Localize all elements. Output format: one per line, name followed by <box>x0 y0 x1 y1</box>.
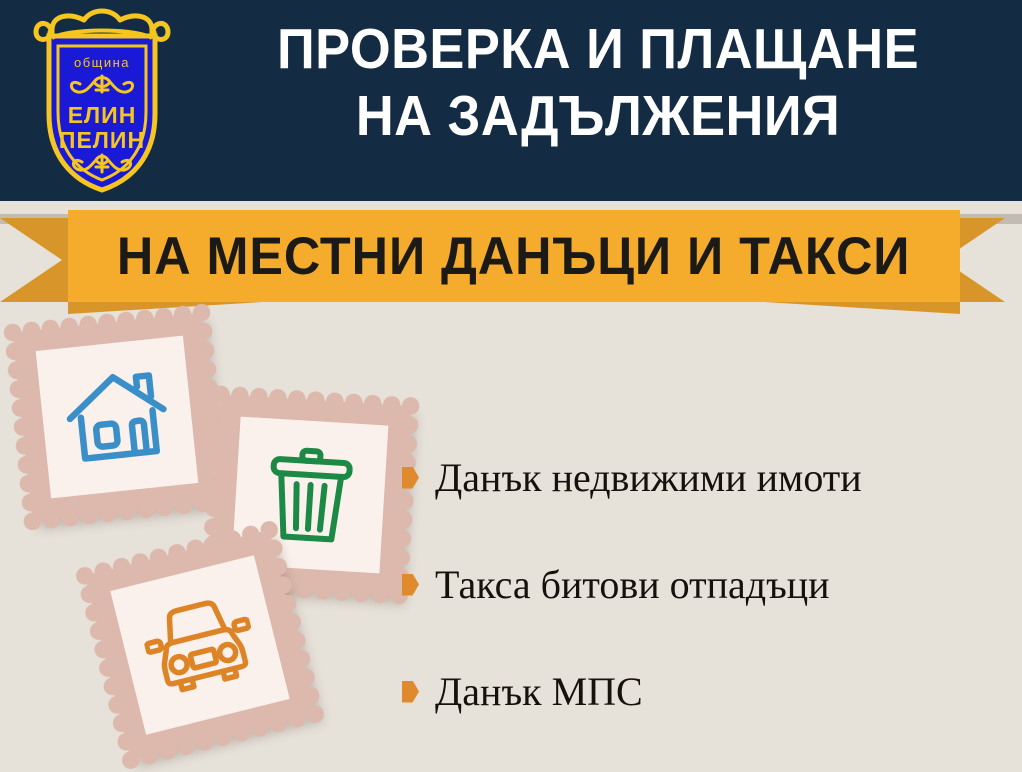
service-list: Данък недвижими имоти Такса битови отпад… <box>402 424 1022 745</box>
arrow-bullet-icon <box>402 467 419 489</box>
poster-root: община ЕЛИН ПЕЛИН <box>0 0 1022 772</box>
page-title-line-2: НА ЗАДЪЛЖЕНИЯ <box>223 83 974 150</box>
header-band: община ЕЛИН ПЕЛИН <box>0 0 1022 201</box>
trash-bin-icon <box>261 442 359 547</box>
list-item-label: Данък недвижими имоти <box>435 458 862 498</box>
car-icon <box>137 590 263 700</box>
crest-top-text: община <box>74 55 130 70</box>
ribbon-panel: НА МЕСТНИ ДАНЪЦИ И ТАКСИ <box>68 210 960 302</box>
page-title: ПРОВЕРКА И ПЛАЩАНЕ НА ЗАДЪЛЖЕНИЯ <box>223 16 974 151</box>
stamp-paper <box>110 555 289 734</box>
list-item[interactable]: Данък недвижими имоти <box>402 424 1022 531</box>
list-item[interactable]: Такса битови отпадъци <box>402 531 1022 638</box>
arrow-bullet-icon <box>402 681 419 703</box>
stamp-paper <box>36 336 199 499</box>
crest-name-line2: ПЕЛИН <box>59 127 145 153</box>
crest-name-line1: ЕЛИН <box>68 102 137 128</box>
list-item-label: Данък МПС <box>435 672 643 712</box>
crest-icon: община ЕЛИН ПЕЛИН <box>22 6 182 196</box>
ribbon-text: НА МЕСТНИ ДАНЪЦИ И ТАКСИ <box>117 226 911 287</box>
stamp-collage <box>0 300 420 772</box>
municipality-crest: община ЕЛИН ПЕЛИН <box>22 6 182 196</box>
list-item-label: Такса битови отпадъци <box>435 565 830 605</box>
page-title-line-1: ПРОВЕРКА И ПЛАЩАНЕ <box>223 16 974 83</box>
arrow-bullet-icon <box>402 574 419 596</box>
list-item[interactable]: Данък МПС <box>402 638 1022 745</box>
subtitle-ribbon: НА МЕСТНИ ДАНЪЦИ И ТАКСИ <box>0 210 1022 310</box>
house-icon <box>60 364 173 470</box>
stamp-property-tax <box>13 313 222 522</box>
